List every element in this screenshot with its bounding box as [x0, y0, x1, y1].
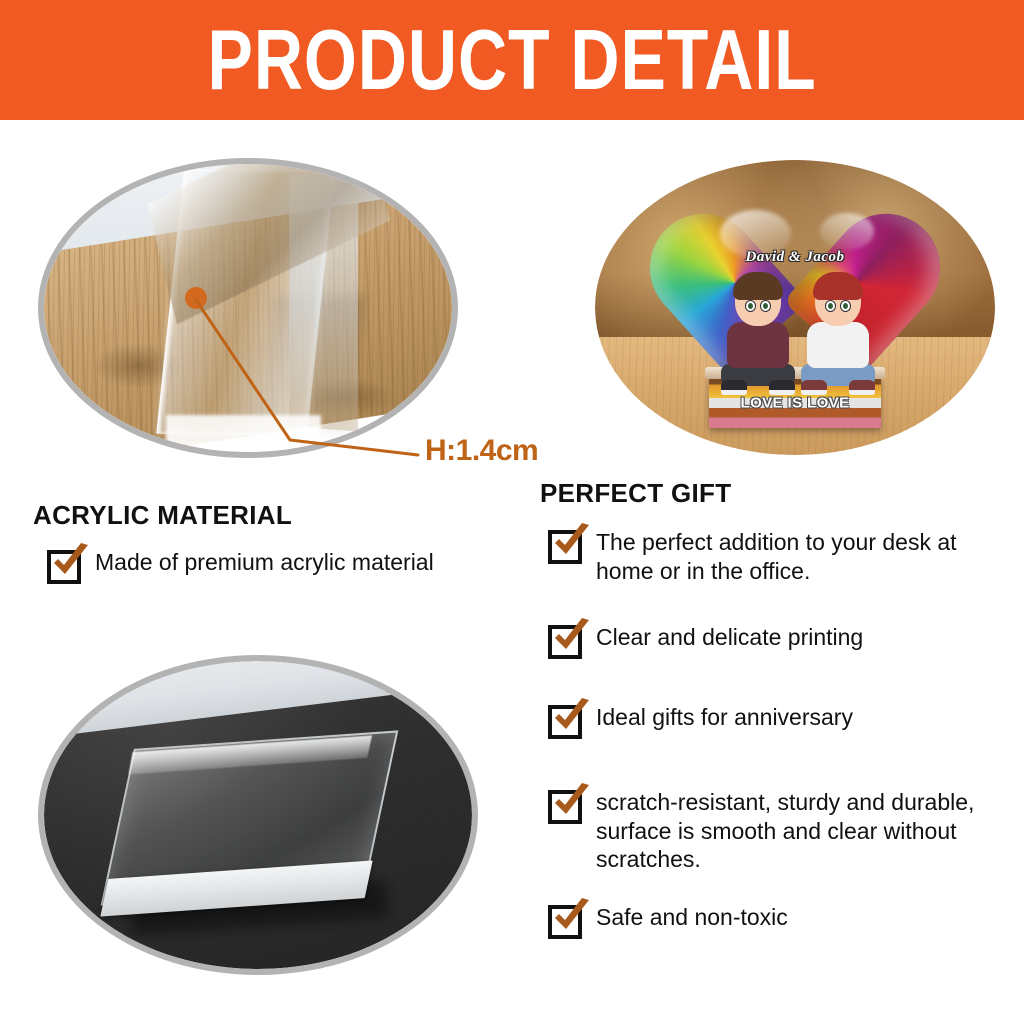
header-banner: PRODUCT DETAIL: [0, 0, 1024, 120]
feature-item: Made of premium acrylic material: [47, 548, 517, 584]
product-lifestyle-photo: David & Jacob L: [595, 160, 995, 455]
feature-item: scratch-resistant, sturdy and durable, s…: [548, 788, 998, 874]
base-slogan-text: LOVE IS LOVE: [741, 395, 850, 412]
feature-text: Clear and delicate printing: [596, 623, 863, 652]
figure-eye: [825, 300, 836, 312]
thickness-photo-content: [44, 164, 452, 452]
cartoon-figure-left: [719, 276, 797, 396]
couple-names-text: David & Jacob: [746, 249, 845, 266]
checkmark-icon: [548, 705, 582, 739]
feature-text: scratch-resistant, sturdy and durable, s…: [596, 788, 998, 874]
feature-item: Safe and non-toxic: [548, 903, 998, 939]
figure-shoe: [769, 380, 795, 395]
checkmark-icon: [548, 905, 582, 939]
feature-item: The perfect addition to your desk at hom…: [548, 528, 998, 585]
thickness-callout-dot: [185, 287, 207, 309]
checkmark-icon: [548, 625, 582, 659]
figure-shirt: [727, 322, 789, 368]
feature-item: Ideal gifts for anniversary: [548, 703, 998, 739]
feature-text: The perfect addition to your desk at hom…: [596, 528, 998, 585]
figure-shoe: [801, 380, 827, 395]
acrylic-base-highlight: [166, 415, 321, 452]
checkmark-icon: [548, 790, 582, 824]
figure-eye: [745, 300, 756, 312]
feature-text: Ideal gifts for anniversary: [596, 703, 853, 732]
feature-item: Clear and delicate printing: [548, 623, 998, 659]
figure-shoe: [849, 380, 875, 395]
thickness-label: H:1.4cm: [425, 434, 538, 468]
product-photo-content: David & Jacob L: [595, 160, 995, 455]
section-heading-acrylic-material: ACRYLIC MATERIAL: [33, 500, 292, 531]
page-title: PRODUCT DETAIL: [207, 17, 816, 102]
cartoon-figure-right: [799, 276, 877, 396]
checkmark-icon: [548, 530, 582, 564]
feature-text: Made of premium acrylic material: [95, 548, 434, 577]
figure-shoe: [721, 380, 747, 395]
product-thickness-photo: [38, 158, 458, 458]
heart-gloss-highlight: [820, 213, 874, 250]
block-photo-content: [44, 661, 472, 969]
figure-hair: [733, 272, 783, 300]
section-heading-perfect-gift: PERFECT GIFT: [540, 478, 731, 509]
wood-table-scene: [44, 164, 452, 452]
checkmark-icon: [47, 550, 81, 584]
figure-eye: [760, 300, 771, 312]
feature-text: Safe and non-toxic: [596, 903, 788, 932]
acrylic-block-photo: [38, 655, 478, 975]
figure-shirt: [807, 322, 869, 368]
figure-eye: [840, 300, 851, 312]
figure-hair: [813, 272, 863, 300]
